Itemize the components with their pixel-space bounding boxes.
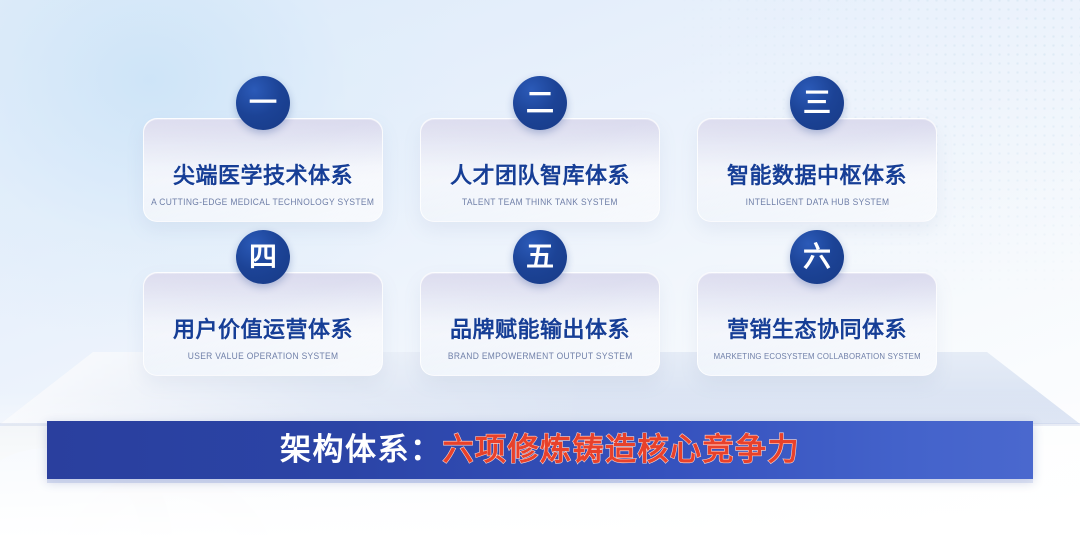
numeral-badge-6: 六	[790, 230, 844, 284]
card-title-4: 用户价值运营体系	[173, 312, 353, 344]
card-subtitle-5: BRAND EMPOWERMENT OUTPUT SYSTEM	[448, 351, 633, 361]
headline-banner: 架构体系： 六项修炼铸造核心竞争力	[47, 421, 1033, 479]
numeral-badge-2: 二	[513, 76, 567, 130]
banner-base-edge	[47, 479, 1033, 483]
headline-banner-text: 架构体系： 六项修炼铸造核心竞争力	[280, 435, 800, 466]
framework-card-4[interactable]: 四 用户价值运营体系 USER VALUE OPERATION SYSTEM	[143, 272, 383, 376]
framework-card-1[interactable]: 一 尖端医学技术体系 A CUTTING-EDGE MEDICAL TECHNO…	[143, 118, 383, 222]
headline-accent: 六项修炼铸造核心竞争力	[443, 435, 801, 466]
framework-card-2[interactable]: 二 人才团队智库体系 TALENT TEAM THINK TANK SYSTEM	[420, 118, 660, 222]
card-subtitle-4: USER VALUE OPERATION SYSTEM	[188, 351, 339, 361]
card-subtitle-3: INTELLIGENT DATA HUB SYSTEM	[745, 197, 889, 207]
card-title-1: 尖端医学技术体系	[173, 158, 353, 190]
numeral-badge-5: 五	[513, 230, 567, 284]
card-subtitle-1: A CUTTING-EDGE MEDICAL TECHNOLOGY SYSTEM	[151, 197, 374, 207]
numeral-badge-3: 三	[790, 76, 844, 130]
framework-card-5[interactable]: 五 品牌赋能输出体系 BRAND EMPOWERMENT OUTPUT SYST…	[420, 272, 660, 376]
framework-card-6[interactable]: 六 营销生态协同体系 MARKETING ECOSYSTEM COLLABORA…	[697, 272, 937, 376]
card-title-2: 人才团队智库体系	[450, 158, 630, 190]
card-subtitle-6: MARKETING ECOSYSTEM COLLABORATION SYSTEM	[713, 351, 920, 361]
framework-card-3[interactable]: 三 智能数据中枢体系 INTELLIGENT DATA HUB SYSTEM	[697, 118, 937, 222]
headline-lead: 架构体系：	[280, 435, 443, 466]
slide-canvas: 一 尖端医学技术体系 A CUTTING-EDGE MEDICAL TECHNO…	[0, 0, 1080, 540]
card-title-6: 营销生态协同体系	[727, 312, 907, 344]
card-title-3: 智能数据中枢体系	[727, 158, 907, 190]
numeral-badge-4: 四	[236, 230, 290, 284]
card-subtitle-2: TALENT TEAM THINK TANK SYSTEM	[462, 197, 618, 207]
card-title-5: 品牌赋能输出体系	[450, 312, 630, 344]
framework-card-grid: 一 尖端医学技术体系 A CUTTING-EDGE MEDICAL TECHNO…	[143, 118, 937, 376]
numeral-badge-1: 一	[236, 76, 290, 130]
